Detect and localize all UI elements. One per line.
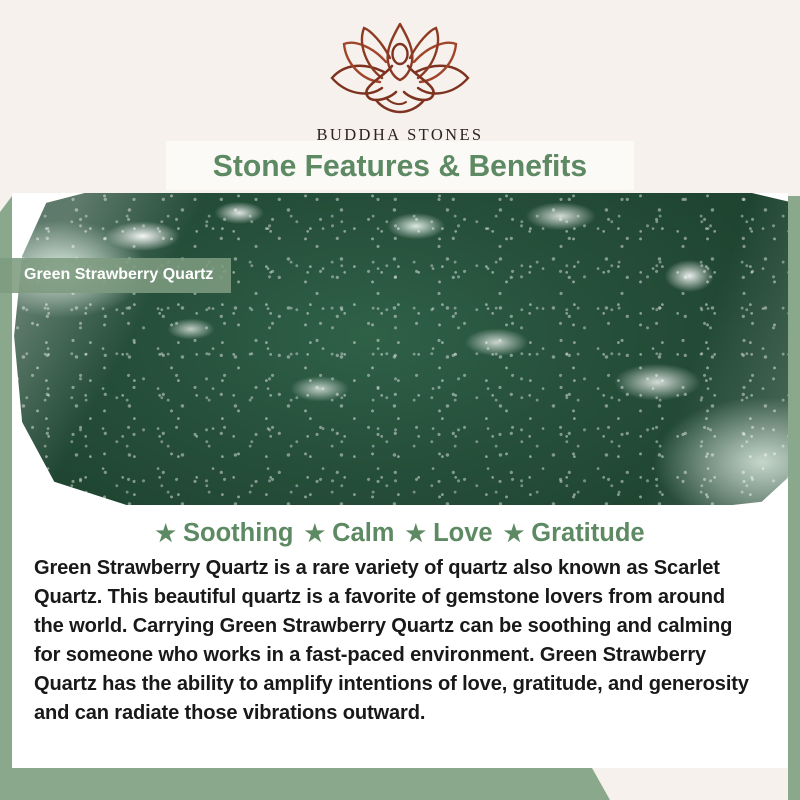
page-title-banner: Stone Features & Benefits xyxy=(166,141,634,190)
brand-logo: BUDDHA STONES xyxy=(0,22,800,145)
stone-gloss-overlay xyxy=(12,193,788,505)
keyword-calm: ★ Calm xyxy=(293,519,394,548)
star-icon: ★ xyxy=(155,522,176,545)
stone-name-caption: Green Strawberry Quartz xyxy=(0,258,231,293)
star-icon: ★ xyxy=(405,522,426,545)
star-icon: ★ xyxy=(504,522,525,545)
content-section: ★ Soothing ★ Calm ★ Love ★ Gratitude Gre… xyxy=(12,505,788,768)
page-title: Stone Features & Benefits xyxy=(213,148,587,184)
keyword-gratitude: ★ Gratitude xyxy=(493,519,645,548)
keyword-label: Soothing xyxy=(183,519,293,548)
star-icon: ★ xyxy=(304,522,325,545)
green-strawberry-quartz-photo xyxy=(12,193,788,505)
keyword-label: Calm xyxy=(332,519,394,548)
keyword-love: ★ Love xyxy=(394,519,492,548)
hero-stone-image xyxy=(12,193,788,505)
description-paragraph: Green Strawberry Quartz is a rare variet… xyxy=(34,554,759,728)
benefit-keywords-row: ★ Soothing ★ Calm ★ Love ★ Gratitude xyxy=(12,505,788,548)
lotus-meditation-figure-icon xyxy=(324,22,476,123)
decor-bottom-band xyxy=(0,768,800,800)
infographic-page: BUDDHA STONES Stone Features & Benefits … xyxy=(0,0,800,800)
keyword-label: Gratitude xyxy=(531,519,644,548)
keyword-label: Love xyxy=(433,519,493,548)
keyword-soothing: ★ Soothing xyxy=(155,519,293,548)
